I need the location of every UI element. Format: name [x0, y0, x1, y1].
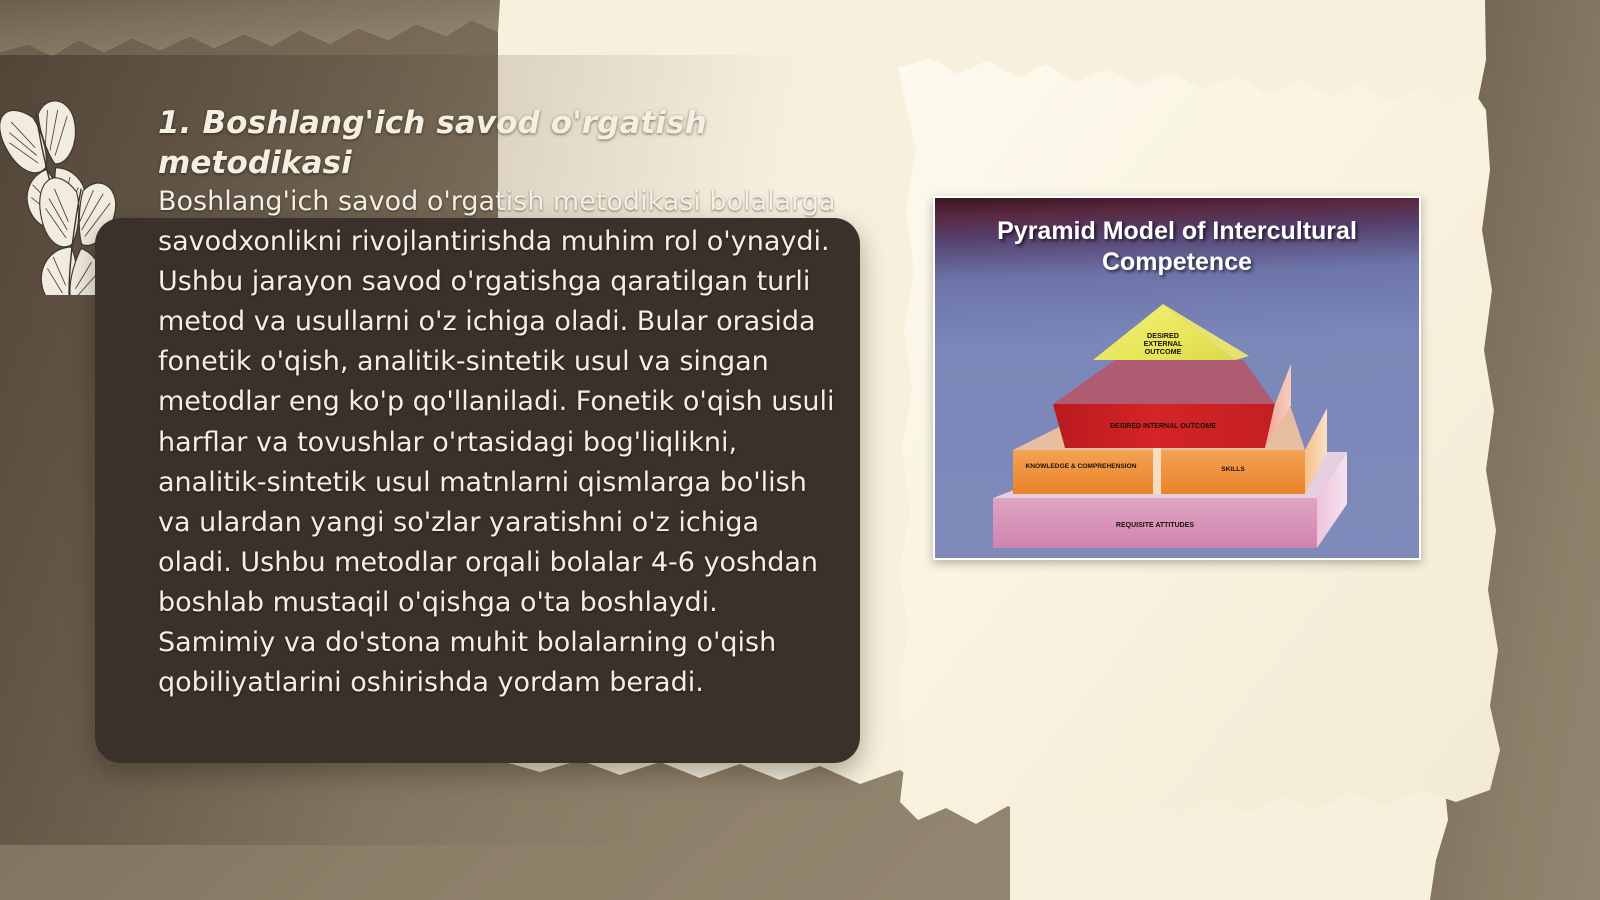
- tier-label-internal: DESIRED INTERNAL OUTCOME: [1110, 423, 1216, 430]
- page-title: 1. Boshlang'ich savod o'rgatish metodika…: [158, 104, 858, 183]
- body-paragraph: Boshlang'ich savod o'rgatish metodikasi …: [158, 182, 838, 703]
- pyramid-figure: Pyramid Model of Intercultural Competenc…: [933, 196, 1421, 560]
- tier-label-apex-line3: OUTCOME: [1145, 347, 1182, 356]
- tier-label-knowledge: KNOWLEDGE & COMPREHENSION: [1026, 463, 1137, 470]
- slide-canvas: 1. Boshlang'ich savod o'rgatish metodika…: [0, 0, 1600, 900]
- pyramid-diagram: REQUISITE ATTITUDES KNOWLEDGE & COMPREHE…: [935, 286, 1421, 560]
- tier-label-base: REQUISITE ATTITUDES: [1116, 522, 1195, 529]
- figure-title: Pyramid Model of Intercultural Competenc…: [935, 216, 1419, 277]
- tier-label-skills: SKILLS: [1221, 466, 1245, 473]
